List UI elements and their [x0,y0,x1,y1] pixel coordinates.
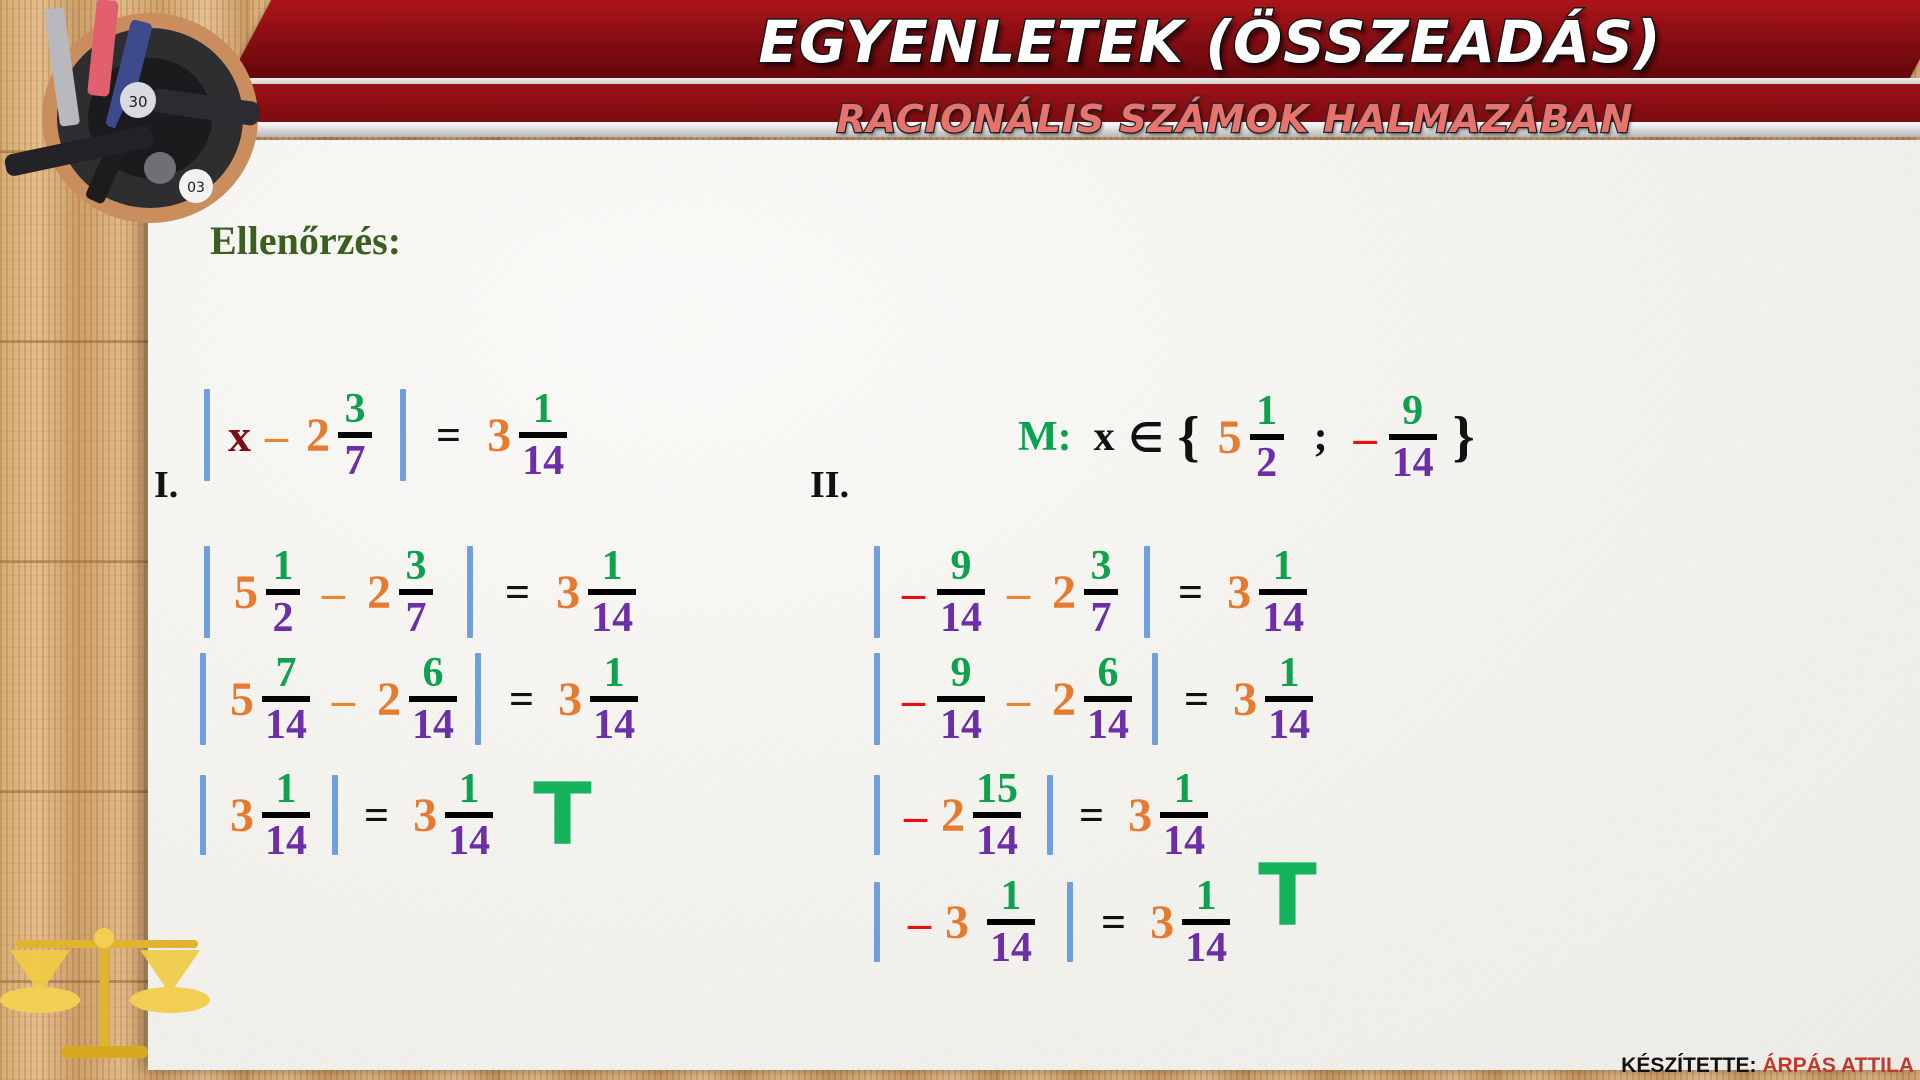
c2l2-b-whole: 2 [1052,672,1076,727]
c2l3-a-sign: – [904,789,927,842]
solution-first-fraction: 1 2 [1250,390,1284,484]
case-one-line-1: 5 1 2 – 2 3 7 = 3 1 14 [204,545,640,639]
c1l3-a-fraction: 1 14 [262,768,310,862]
solution-set: M: x ∈ { 5 1 2 ; – 9 14 } [1018,390,1475,484]
solution-second-denominator: 14 [1389,442,1437,484]
c2l3-r-fraction: 1 14 [1160,768,1208,862]
author-credit: KÉSZÍTETTE: ÁRPÁS ATTILA [1621,1054,1914,1078]
c2l2-a-sign: – [902,673,925,726]
c2l2-b-fraction: 6 14 [1084,652,1132,746]
c2l2-equals: = [1184,674,1209,725]
c2l4-a-fraction: 1 14 [987,875,1035,969]
solution-second-numerator: 9 [1399,390,1426,432]
c2l1-b-denominator: 7 [1088,597,1115,639]
c2l3-r-denominator: 14 [1160,820,1208,862]
abs-bar-open-icon [874,546,880,638]
c2l2-r-whole: 3 [1233,672,1257,727]
abs-bar-open-icon [874,882,880,962]
case-one-line-3: 3 1 14 = 3 1 14 T [200,768,592,862]
abs-bar-close-icon [1152,653,1158,745]
case-one-verdict-true: T [533,781,592,850]
check-result-whole: 3 [487,408,511,463]
c2l3-r-numerator: 1 [1171,768,1198,810]
brace-close: } [1453,405,1475,469]
c2l2-r-numerator: 1 [1276,652,1303,694]
check-equals: = [436,410,461,461]
c1l2-b-whole: 2 [377,672,401,727]
check-result-numerator: 1 [530,388,557,430]
abs-bar-close-icon [467,546,473,638]
c2l3-a-denominator: 14 [973,820,1021,862]
c2l1-a-denominator: 14 [937,597,985,639]
solution-variable: x [1094,413,1115,461]
c2l1-r-fraction: 1 14 [1259,545,1307,639]
case-two-label: II. [810,463,849,507]
c2l3-a-whole: 2 [941,788,965,843]
c2l2-b-numerator: 6 [1095,652,1122,694]
abs-bar-open-icon [200,775,206,855]
c2l1-a-fraction: 9 14 [937,545,985,639]
c2l3-equals: = [1079,790,1104,841]
c1l3-equals: = [364,790,389,841]
c1l2-a-denominator: 14 [262,704,310,746]
credit-author: ÁRPÁS ATTILA [1762,1054,1914,1077]
check-minus-operator: – [265,409,288,462]
abs-bar-open-icon [204,389,210,481]
abs-bar-close-icon [475,653,481,745]
c1l2-r-numerator: 1 [601,652,628,694]
c1l1-minus: – [322,566,345,619]
c2l4-r-numerator: 1 [1193,875,1220,917]
svg-text:30: 30 [128,93,147,111]
solution-first-numerator: 1 [1253,390,1280,432]
c2l4-a-denominator: 14 [987,927,1035,969]
c2l2-a-numerator: 9 [948,652,975,694]
c2l4-a-sign: – [908,896,931,949]
c2l2-a-fraction: 9 14 [937,652,985,746]
abs-bar-open-icon [874,653,880,745]
c2l2-a-denominator: 14 [937,704,985,746]
c2l1-minus: – [1007,566,1030,619]
c1l1-b-denominator: 7 [403,597,430,639]
c1l1-r-denominator: 14 [588,597,636,639]
abs-bar-open-icon [200,653,206,745]
c1l3-r-numerator: 1 [456,768,483,810]
solution-separator: ; [1314,413,1328,461]
c2l1-b-numerator: 3 [1088,545,1115,587]
c2l2-minus: – [1007,673,1030,726]
slide-paper: Ellenőrzés: x – 2 3 7 = 3 1 14 M: x ∈ [148,140,1920,1070]
c2l4-r-fraction: 1 14 [1182,875,1230,969]
c1l2-r-fraction: 1 14 [590,652,638,746]
c1l2-b-numerator: 6 [420,652,447,694]
c1l2-r-whole: 3 [558,672,582,727]
case-two-verdict-true: T [1258,862,1317,931]
c2l1-equals: = [1178,567,1203,618]
c1l1-r-numerator: 1 [599,545,626,587]
check-result-denominator: 14 [519,440,567,482]
c1l2-a-numerator: 7 [273,652,300,694]
c1l2-equals: = [509,674,534,725]
brace-open: { [1177,405,1199,469]
c1l3-r-fraction: 1 14 [445,768,493,862]
c1l1-equals: = [505,567,530,618]
check-result-fraction: 1 14 [519,388,567,482]
c2l3-a-numerator: 15 [973,768,1021,810]
c2l1-b-fraction: 3 7 [1084,545,1118,639]
c2l4-equals: = [1101,897,1126,948]
case-one-line-2: 5 7 14 – 2 6 14 = 3 1 14 [200,652,642,746]
c1l2-b-fraction: 6 14 [409,652,457,746]
c1l2-a-whole: 5 [230,672,254,727]
abs-bar-close-icon [1067,882,1073,962]
c2l1-a-sign: – [902,566,925,619]
c1l1-b-fraction: 3 7 [399,545,433,639]
pencil-cup-image: 30 03 [0,0,270,270]
solution-first-denominator: 2 [1253,442,1280,484]
case-two-line-2: – 9 14 – 2 6 14 = 3 1 14 [874,652,1317,746]
abs-bar-close-icon [400,389,406,481]
check-denominator: 7 [342,440,369,482]
c2l4-r-denominator: 14 [1182,927,1230,969]
solution-second-fraction: 9 14 [1389,390,1437,484]
abs-bar-close-icon [1047,775,1053,855]
c1l1-r-whole: 3 [556,565,580,620]
header-banner: EGYENLETEK (ÖSSZEADÁS) RACIONÁLIS SZÁMOK… [0,0,1920,152]
c2l2-b-denominator: 14 [1084,704,1132,746]
c2l4-r-whole: 3 [1150,895,1174,950]
abs-bar-open-icon [204,546,210,638]
c2l4-a-whole: 3 [945,895,969,950]
c1l1-a-numerator: 1 [270,545,297,587]
page-subtitle: RACIONÁLIS SZÁMOK HALMAZÁBAN [560,97,1910,141]
check-whole: 2 [306,408,330,463]
case-two-line-4: – 3 1 14 = 3 1 14 T [874,875,1317,969]
c1l1-b-whole: 2 [367,565,391,620]
c1l3-r-denominator: 14 [445,820,493,862]
c2l4-a-numerator: 1 [998,875,1025,917]
c1l2-a-fraction: 7 14 [262,652,310,746]
credit-prefix: KÉSZÍTETTE: [1621,1054,1756,1077]
c2l1-r-whole: 3 [1227,565,1251,620]
c2l3-r-whole: 3 [1128,788,1152,843]
c1l3-a-denominator: 14 [262,820,310,862]
abs-bar-open-icon [874,775,880,855]
c2l1-r-denominator: 14 [1259,597,1307,639]
abs-bar-close-icon [332,775,338,855]
c1l2-minus: – [332,673,355,726]
case-two-line-3: – 2 15 14 = 3 1 14 [874,768,1212,862]
balance-scale-image [0,920,215,1080]
case-one-label: I. [154,463,178,507]
check-variable: x [228,409,251,462]
c1l2-r-denominator: 14 [590,704,638,746]
abs-bar-close-icon [1144,546,1150,638]
solution-first-whole: 5 [1218,410,1242,465]
c1l1-a-fraction: 1 2 [266,545,300,639]
page-title: EGYENLETEK (ÖSSZEADÁS) [540,8,1880,76]
check-fraction: 3 7 [338,388,372,482]
c1l2-b-denominator: 14 [409,704,457,746]
c2l1-b-whole: 2 [1052,565,1076,620]
c1l1-b-numerator: 3 [403,545,430,587]
c1l3-a-numerator: 1 [273,768,300,810]
c2l2-r-denominator: 14 [1265,704,1313,746]
element-of-icon: ∈ [1129,414,1164,461]
c1l1-a-whole: 5 [234,565,258,620]
c1l1-r-fraction: 1 14 [588,545,636,639]
svg-text:03: 03 [187,180,205,196]
c2l2-r-fraction: 1 14 [1265,652,1313,746]
solution-set-label: M: [1018,413,1072,461]
c1l1-a-denominator: 2 [270,597,297,639]
c2l1-a-numerator: 9 [948,545,975,587]
c2l3-a-fraction: 15 14 [973,768,1021,862]
case-two-line-1: – 9 14 – 2 3 7 = 3 1 14 [874,545,1311,639]
c2l1-r-numerator: 1 [1270,545,1297,587]
solution-second-sign: – [1354,411,1377,464]
c1l3-r-whole: 3 [413,788,437,843]
check-equation: x – 2 3 7 = 3 1 14 [204,388,571,482]
check-numerator: 3 [342,388,369,430]
c1l3-a-whole: 3 [230,788,254,843]
